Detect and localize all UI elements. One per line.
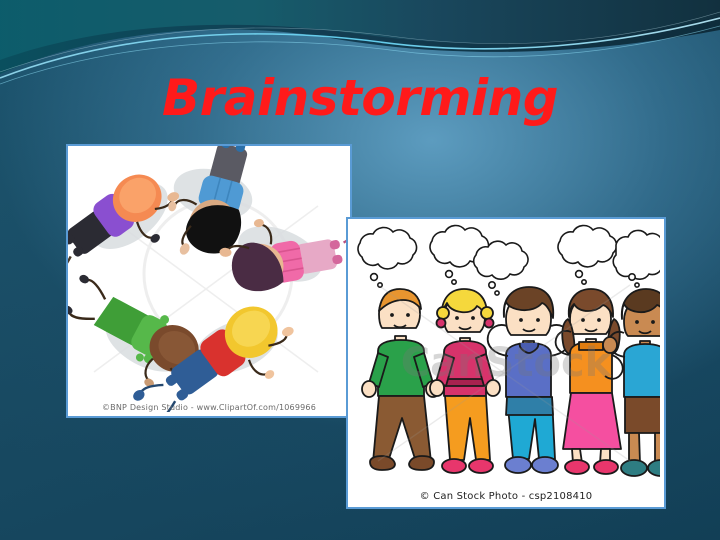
left-image-stage [68, 146, 350, 416]
page-title: Brainstorming [162, 73, 558, 123]
children-in-circle-illustration [68, 146, 346, 412]
image-kids-thought-bubbles[interactable]: CanStock © Can Stock Photo - csp2108410 [346, 217, 666, 509]
slide-canvas: Brainstorming [0, 0, 720, 540]
left-image-caption: ©BNP Design Studio - www.ClipartOf.com/1… [68, 403, 350, 412]
title-placeholder[interactable]: Brainstorming [40, 66, 680, 130]
kids-thinking-illustration [348, 219, 660, 503]
right-image-caption: © Can Stock Photo - csp2108410 [348, 491, 664, 502]
image-children-circle[interactable]: ©BNP Design Studio - www.ClipartOf.com/1… [66, 144, 352, 418]
right-image-stage [348, 219, 664, 507]
